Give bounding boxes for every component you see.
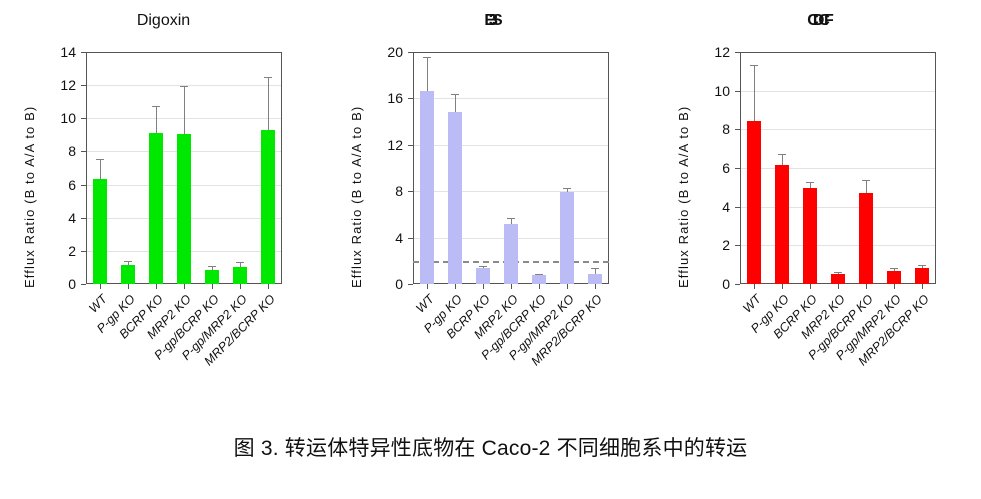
error-bar <box>100 159 101 179</box>
bar <box>532 275 546 284</box>
plot-area: 024681012 <box>740 52 936 284</box>
bar <box>887 271 901 284</box>
x-tick-mark <box>427 284 428 289</box>
plot-area: 02468101214 <box>86 52 282 284</box>
axis-right <box>608 52 609 284</box>
error-bar-cap <box>507 218 515 219</box>
gridline <box>740 91 936 92</box>
x-tick-mark <box>866 284 867 289</box>
error-bar-cap <box>778 154 786 155</box>
y-tick-label: 8 <box>36 143 76 159</box>
x-tick-mark <box>184 284 185 289</box>
x-tick-mark <box>539 284 540 289</box>
chart-panels: DigoxinEfflux Ratio (B to A/A to B)02468… <box>0 0 981 400</box>
bar <box>831 274 845 284</box>
x-tick-mark <box>922 284 923 289</box>
y-tick-mark <box>735 284 740 285</box>
axis-left <box>413 52 414 284</box>
bar <box>803 188 817 284</box>
bar <box>233 267 247 284</box>
axis-top <box>86 52 282 53</box>
bar <box>93 179 107 284</box>
x-tick-mark <box>754 284 755 289</box>
axis-top <box>740 52 936 53</box>
error-bar <box>427 57 428 92</box>
x-tick-mark <box>156 284 157 289</box>
y-tick-label: 6 <box>36 177 76 193</box>
x-tick-mark <box>894 284 895 289</box>
chart-title: Digoxin <box>0 12 327 30</box>
error-bar-cap <box>806 182 814 183</box>
y-tick-label: 8 <box>363 183 403 199</box>
y-tick-label: 20 <box>363 44 403 60</box>
bar <box>177 134 191 284</box>
error-bar-cap <box>451 94 459 95</box>
x-tick-mark <box>838 284 839 289</box>
bar <box>504 224 518 284</box>
gridline <box>740 245 936 246</box>
y-tick-label: 2 <box>36 243 76 259</box>
axis-left <box>86 52 87 284</box>
bar <box>588 274 602 284</box>
y-tick-label: 0 <box>36 276 76 292</box>
x-tick-mark <box>240 284 241 289</box>
error-bar <box>810 182 811 189</box>
error-bar-cap <box>236 262 244 263</box>
error-bar-cap <box>750 65 758 66</box>
error-bar <box>866 180 867 194</box>
x-tick-mark <box>268 284 269 289</box>
y-tick-label: 10 <box>36 110 76 126</box>
error-bar <box>754 65 755 121</box>
y-tick-label: 8 <box>690 121 730 137</box>
gridline <box>413 191 609 192</box>
gridline <box>413 98 609 99</box>
gridline <box>740 129 936 130</box>
error-bar-cap <box>208 266 216 267</box>
bar <box>121 265 135 284</box>
bar <box>261 130 275 284</box>
y-tick-label: 16 <box>363 90 403 106</box>
error-bar-cap <box>591 268 599 269</box>
x-tick-mark <box>455 284 456 289</box>
error-bar-cap <box>918 265 926 266</box>
y-tick-label: 4 <box>363 230 403 246</box>
y-tick-label: 0 <box>363 276 403 292</box>
bar <box>747 121 761 284</box>
error-bar-cap <box>152 106 160 107</box>
error-bar <box>268 77 269 130</box>
error-bar <box>156 106 157 133</box>
y-tick-mark <box>81 284 86 285</box>
error-bar-cap <box>96 159 104 160</box>
y-tick-label: 12 <box>690 44 730 60</box>
error-bar-cap <box>535 274 543 275</box>
y-tick-label: 4 <box>36 210 76 226</box>
bar <box>448 112 462 284</box>
error-bar-cap <box>834 272 842 273</box>
y-tick-label: 14 <box>36 44 76 60</box>
error-bar-cap <box>862 180 870 181</box>
y-axis-title: Efflux Ratio (B to A/A to B) <box>349 106 364 288</box>
gridline <box>740 168 936 169</box>
chart-panel-2: E3SEfflux Ratio (B to A/A to B)048121620… <box>327 0 654 400</box>
y-tick-label: 12 <box>36 77 76 93</box>
error-bar-cap <box>479 266 487 267</box>
x-tick-mark <box>810 284 811 289</box>
y-tick-mark <box>408 284 413 285</box>
y-axis-title: Efflux Ratio (B to A/A to B) <box>676 106 691 288</box>
bar <box>560 192 574 284</box>
y-tick-label: 10 <box>690 83 730 99</box>
y-tick-label: 4 <box>690 199 730 215</box>
x-tick-mark <box>212 284 213 289</box>
chart-panel-1: DigoxinEfflux Ratio (B to A/A to B)02468… <box>0 0 327 400</box>
chart-title: CDCF <box>654 12 981 30</box>
x-tick-mark <box>483 284 484 289</box>
y-tick-label: 2 <box>690 237 730 253</box>
x-tick-mark <box>100 284 101 289</box>
error-bar-cap <box>264 77 272 78</box>
axis-right <box>935 52 936 284</box>
plot-area: 048121620 <box>413 52 609 284</box>
error-bar-cap <box>124 261 132 262</box>
bar <box>859 193 873 284</box>
bar <box>420 91 434 284</box>
x-tick-mark <box>595 284 596 289</box>
error-bar <box>455 94 456 113</box>
error-bar-cap <box>180 86 188 87</box>
error-bar-cap <box>563 188 571 189</box>
error-bar <box>782 154 783 165</box>
chart-title: E3S <box>327 12 654 30</box>
error-bar <box>184 86 185 134</box>
x-tick-mark <box>511 284 512 289</box>
y-tick-label: 6 <box>690 160 730 176</box>
axis-top <box>413 52 609 53</box>
x-tick-mark <box>782 284 783 289</box>
chart-panel-3: CDCFEfflux Ratio (B to A/A to B)02468101… <box>654 0 981 400</box>
y-tick-label: 0 <box>690 276 730 292</box>
error-bar-cap <box>423 57 431 58</box>
axis-left <box>740 52 741 284</box>
error-bar-cap <box>890 268 898 269</box>
x-tick-mark <box>128 284 129 289</box>
figure-caption: 图 3. 转运体特异性底物在 Caco-2 不同细胞系中的转运 <box>0 432 981 462</box>
gridline <box>740 207 936 208</box>
bar <box>775 165 789 284</box>
y-axis-title: Efflux Ratio (B to A/A to B) <box>22 106 37 288</box>
axis-right <box>281 52 282 284</box>
bar <box>476 268 490 284</box>
bar <box>205 270 219 284</box>
y-tick-label: 12 <box>363 137 403 153</box>
bar <box>149 133 163 284</box>
figure-container: DigoxinEfflux Ratio (B to A/A to B)02468… <box>0 0 981 499</box>
gridline <box>413 145 609 146</box>
x-tick-mark <box>567 284 568 289</box>
bar <box>915 268 929 284</box>
